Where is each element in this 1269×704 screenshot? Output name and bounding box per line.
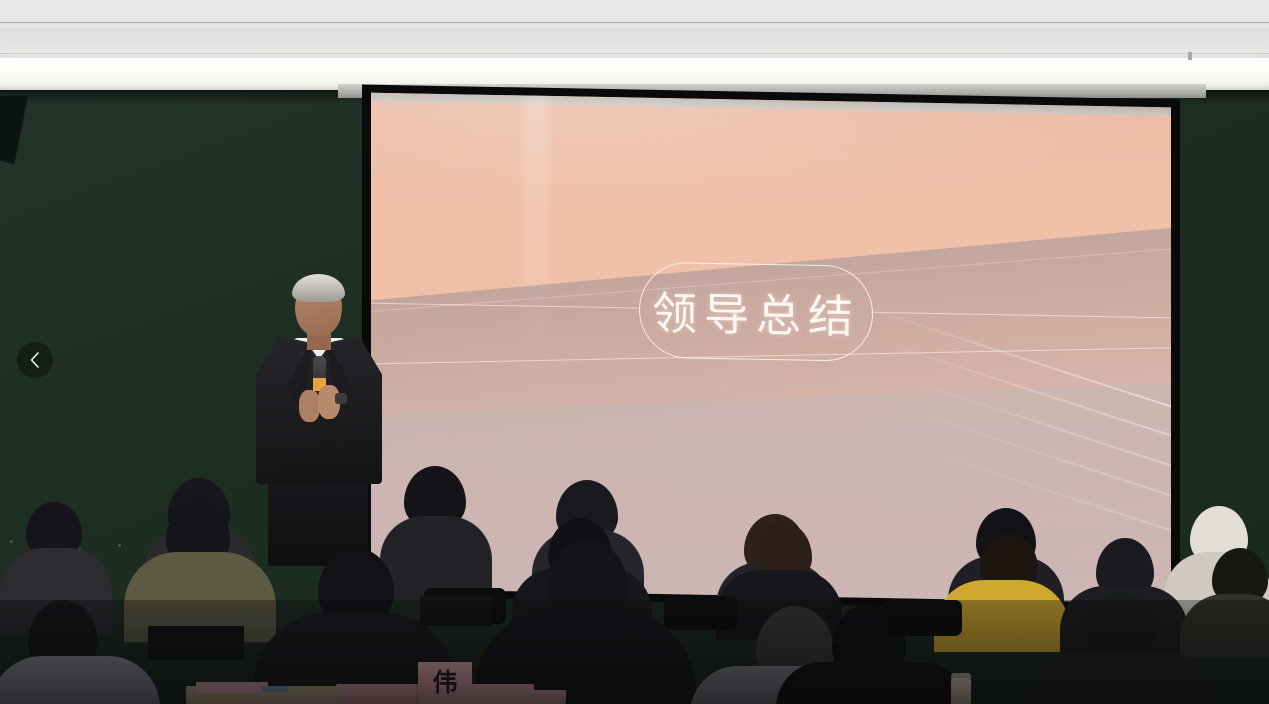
desk-front-center <box>456 690 566 704</box>
wall-speck <box>118 544 121 547</box>
pen <box>262 686 288 692</box>
name-placard: 伟 <box>418 662 472 704</box>
presenter-watch <box>335 393 347 404</box>
light-mount <box>1188 52 1192 60</box>
attendee-body <box>776 662 968 704</box>
paper-pink <box>196 682 268 694</box>
ceiling-seam <box>0 53 1269 54</box>
name-placard-text: 伟 <box>432 671 457 696</box>
wall-speck <box>10 540 13 543</box>
slide-title: 领导总结 <box>652 277 860 346</box>
previous-image-button[interactable] <box>17 342 53 378</box>
laptop <box>148 626 244 660</box>
slide-title-pill: 领导总结 <box>639 261 873 362</box>
attendee-body <box>1028 650 1218 704</box>
attendee-body <box>0 656 160 704</box>
chair-back <box>664 596 738 630</box>
ceiling-light-strip <box>0 58 1269 86</box>
chevron-left-icon <box>28 350 42 370</box>
presenter-hand-left <box>299 390 320 422</box>
water-bottle <box>951 678 971 704</box>
chair-back <box>884 600 962 636</box>
ceiling-seam <box>0 22 1269 23</box>
photo-viewer[interactable]: 领导总结 <box>0 0 1269 704</box>
laptop <box>420 596 492 626</box>
